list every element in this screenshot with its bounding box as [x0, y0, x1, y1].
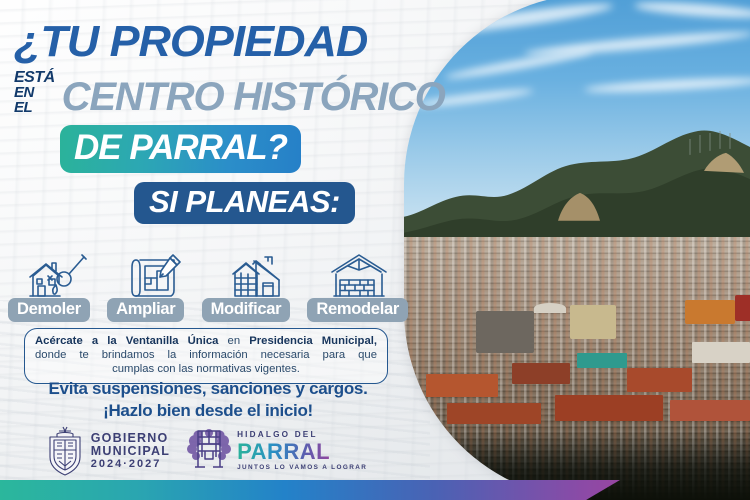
headline-de-parral-pill: DE PARRAL?: [60, 125, 301, 173]
action-pill-ampliar[interactable]: Ampliar: [107, 298, 184, 322]
closing-block: Evita suspensiones, sanciones y cargos. …: [12, 378, 404, 422]
house-wrecking-ball-icon: [26, 252, 88, 298]
gobierno-line-1: GOBIERNO: [91, 432, 170, 445]
gobierno-years: 2024·2027: [91, 458, 170, 471]
headline-block: ¿TU PROPIEDAD ESTÁ EN EL CENTRO HISTÓRIC…: [14, 16, 409, 224]
action-pill-remodelar[interactable]: Remodelar: [307, 298, 408, 322]
blueprint-pencil-icon: [130, 252, 186, 298]
info-bold-ventanilla: Acércate a la Ventanilla Única: [35, 335, 218, 347]
house-brick-wall-icon: [330, 252, 388, 298]
parral-city-aerial-photo: [404, 0, 750, 500]
headline-si-planeas-pill: SI PLANEAS:: [134, 182, 355, 224]
parral-tagline: JUNTOS LO VAMOS A LOGRAR: [237, 463, 367, 472]
parral-wordmark: HIDALGO DEL PARRAL JUNTOS LO VAMOS A LOG…: [237, 430, 367, 472]
info-box: Acércate a la Ventanilla Única en Presid…: [24, 328, 388, 384]
headline-esta: ESTÁ: [14, 70, 55, 85]
info-line-3: cumplas con las normativas vigentes.: [35, 362, 377, 376]
icon-cell-modificar: [209, 248, 307, 298]
gobierno-municipal-logo: GOBIERNO MUNICIPAL 2024·2027: [43, 425, 170, 477]
closing-line-1: Evita suspensiones, sanciones y cargos.: [12, 378, 404, 400]
headline-line-1: ¿TU PROPIEDAD: [14, 16, 417, 68]
parral-word: PARRAL: [237, 440, 367, 463]
action-pills-row: Demoler Ampliar Modificar Remodelar: [8, 298, 408, 322]
action-pill-modificar[interactable]: Modificar: [202, 298, 291, 322]
parral-monument-icon: [186, 427, 232, 476]
icon-cell-ampliar: [109, 248, 207, 298]
info-normal-en: en: [218, 335, 249, 347]
info-line-1: Acércate a la Ventanilla Única en Presid…: [35, 334, 377, 348]
municipal-shield-icon: [43, 425, 85, 477]
closing-line-2: ¡Hazlo bien desde el inicio!: [12, 400, 404, 422]
headline-centro-historico: CENTRO HISTÓRICO: [62, 76, 445, 118]
house-tiles-icon: [230, 252, 286, 298]
icon-cell-demoler: [8, 248, 106, 298]
footer-logos: GOBIERNO MUNICIPAL 2024·2027: [0, 420, 410, 482]
headline-line-2: ESTÁ EN EL CENTRO HISTÓRICO: [14, 70, 409, 118]
poster-root: ¿TU PROPIEDAD ESTÁ EN EL CENTRO HISTÓRIC…: [0, 0, 750, 500]
photo-cityscape: [404, 237, 750, 500]
service-icons-row: [8, 248, 408, 298]
gobierno-municipal-text: GOBIERNO MUNICIPAL 2024·2027: [91, 432, 170, 471]
action-pill-demoler[interactable]: Demoler: [8, 298, 90, 322]
info-bold-presidencia: Presidencia Municipal,: [249, 335, 377, 347]
gobierno-line-2: MUNICIPAL: [91, 445, 170, 458]
icon-cell-remodelar: [310, 248, 408, 298]
headline-en-el: EN EL: [14, 85, 55, 115]
info-line-2: donde te brindamos la información necesa…: [35, 348, 377, 362]
hidalgo-del-parral-logo: HIDALGO DEL PARRAL JUNTOS LO VAMOS A LOG…: [186, 427, 367, 476]
